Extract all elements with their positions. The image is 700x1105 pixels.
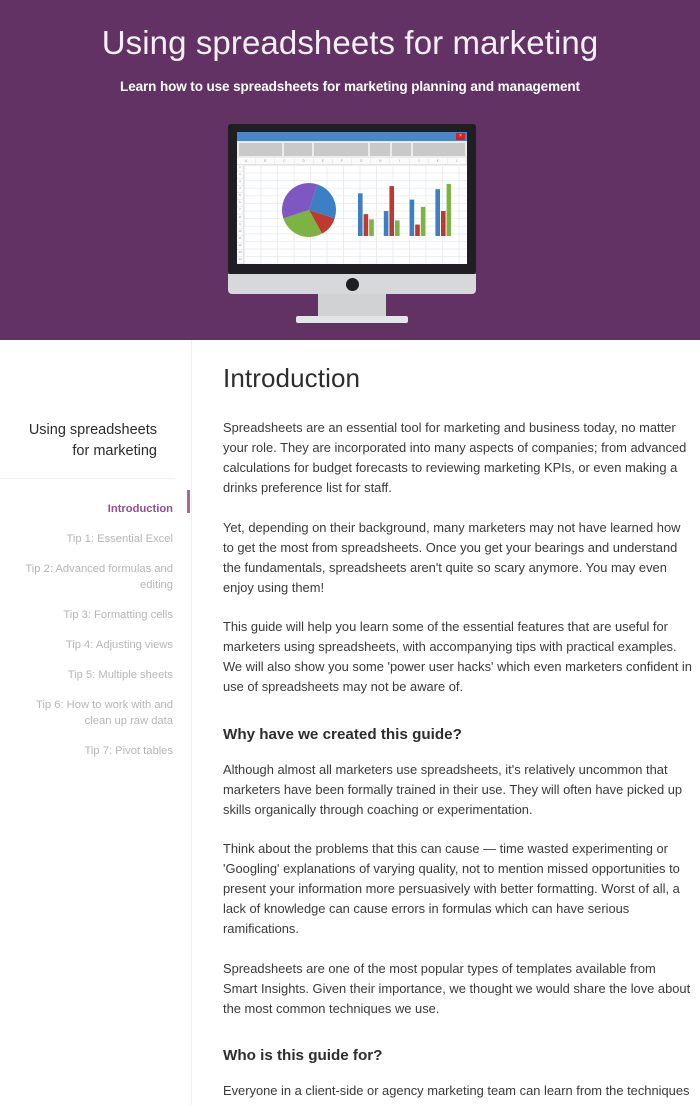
bar xyxy=(447,184,451,236)
row-header-cell: 7 xyxy=(237,207,243,214)
monitor-stand-column xyxy=(318,294,386,316)
ribbon-group xyxy=(284,143,312,156)
bar xyxy=(435,189,440,236)
body-paragraph: Spreadsheets are an essential tool for m… xyxy=(223,418,692,499)
row-header-cell: 9 xyxy=(237,222,243,229)
sidebar: Using spreadsheets for marketing Introdu… xyxy=(0,340,192,1105)
window-titlebar: × xyxy=(237,132,467,141)
active-nav-marker xyxy=(187,490,190,513)
monitor-chin xyxy=(228,274,476,294)
bar xyxy=(395,220,400,236)
row-header-column: 1234567891011121314 xyxy=(237,165,244,264)
body-paragraph: Although almost all marketers use spread… xyxy=(223,760,692,820)
row-header-cell: 6 xyxy=(237,200,243,207)
spreadsheet-ribbon xyxy=(237,141,467,158)
bar xyxy=(410,200,415,236)
monitor-illustration: × ABCDEFGHIJKL 1234567891011121314 xyxy=(0,124,700,304)
bar xyxy=(421,207,426,236)
ribbon-group xyxy=(413,143,465,156)
bar xyxy=(364,214,369,236)
bar-chart xyxy=(357,182,451,243)
bar-chart-svg xyxy=(357,182,451,238)
column-header-cell: A xyxy=(237,158,256,164)
monitor-screen: × ABCDEFGHIJKL 1234567891011121314 xyxy=(237,132,467,264)
row-header-cell: 11 xyxy=(237,236,243,243)
column-header-cell: F xyxy=(333,158,352,164)
column-header-cell: D xyxy=(295,158,314,164)
sidebar-item-tip-5-multiple-sheets[interactable]: Tip 5: Multiple sheets xyxy=(10,667,173,684)
webcam-icon xyxy=(346,278,359,291)
pie-chart xyxy=(279,180,339,245)
close-icon-glyph: × xyxy=(459,134,462,139)
column-header-cell: K xyxy=(429,158,448,164)
column-header-cell: J xyxy=(410,158,429,164)
sidebar-item-introduction[interactable]: Introduction xyxy=(10,501,173,518)
sidebar-nav: IntroductionTip 1: Essential ExcelTip 2:… xyxy=(0,479,191,760)
bar xyxy=(389,186,394,236)
row-header-cell: 13 xyxy=(237,250,243,257)
body-paragraph: Everyone in a client-side or agency mark… xyxy=(223,1081,692,1105)
pie-chart-svg xyxy=(279,180,339,240)
row-header-cell: 3 xyxy=(237,179,243,186)
ribbon-group xyxy=(314,143,368,156)
ribbon-group xyxy=(392,143,411,156)
monitor-stand-base xyxy=(296,316,408,323)
subsection-heading: Why have we created this guide? xyxy=(223,726,692,743)
body-paragraph: Yet, depending on their background, many… xyxy=(223,518,692,599)
content-blocks: Spreadsheets are an essential tool for m… xyxy=(223,418,692,1105)
sidebar-item-tip-2-advanced-formulas-and-editing[interactable]: Tip 2: Advanced formulas and editing xyxy=(10,561,173,595)
row-header-cell: 4 xyxy=(237,186,243,193)
row-header-cell: 8 xyxy=(237,215,243,222)
column-header-cell: H xyxy=(371,158,390,164)
body-paragraph: Think about the problems that this can c… xyxy=(223,839,692,940)
column-header-cell: I xyxy=(390,158,409,164)
guide-page: Using spreadsheets for marketing Learn h… xyxy=(0,0,700,1105)
main-content: Introduction Spreadsheets are an essenti… xyxy=(192,340,700,1105)
column-header-row: ABCDEFGHIJKL xyxy=(237,158,467,165)
body-paragraph: This guide will help you learn some of t… xyxy=(223,617,692,698)
ribbon-group xyxy=(370,143,390,156)
sidebar-title: Using spreadsheets for marketing xyxy=(0,340,175,479)
column-header-cell: G xyxy=(352,158,371,164)
body-paragraph: Spreadsheets are one of the most popular… xyxy=(223,959,692,1019)
sidebar-item-tip-3-formatting-cells[interactable]: Tip 3: Formatting cells xyxy=(10,607,173,624)
sidebar-item-tip-7-pivot-tables[interactable]: Tip 7: Pivot tables xyxy=(10,743,173,760)
column-header-cell: B xyxy=(256,158,275,164)
row-header-cell: 12 xyxy=(237,243,243,250)
sidebar-item-tip-1-essential-excel[interactable]: Tip 1: Essential Excel xyxy=(10,531,173,548)
monitor-bezel: × ABCDEFGHIJKL 1234567891011121314 xyxy=(228,124,476,274)
row-header-cell: 5 xyxy=(237,193,243,200)
page-title: Using spreadsheets for marketing xyxy=(0,22,700,63)
close-icon: × xyxy=(456,133,465,140)
row-header-cell: 1 xyxy=(237,165,243,172)
column-header-cell: E xyxy=(314,158,333,164)
page-subtitle: Learn how to use spreadsheets for market… xyxy=(0,79,700,94)
column-header-cell: L xyxy=(448,158,467,164)
bar xyxy=(369,219,374,236)
bar xyxy=(441,211,446,236)
row-header-cell: 14 xyxy=(237,257,243,264)
subsection-heading: Who is this guide for? xyxy=(223,1047,692,1064)
sidebar-item-tip-4-adjusting-views[interactable]: Tip 4: Adjusting views xyxy=(10,637,173,654)
sidebar-item-tip-6-how-to-work-with-and-clean-up-raw-data[interactable]: Tip 6: How to work with and clean up raw… xyxy=(10,697,173,731)
bar xyxy=(358,193,363,236)
row-header-cell: 2 xyxy=(237,172,243,179)
column-header-cell: C xyxy=(275,158,294,164)
row-header-cell: 10 xyxy=(237,229,243,236)
ribbon-group xyxy=(239,143,282,156)
bar xyxy=(415,225,420,236)
section-heading: Introduction xyxy=(223,363,692,394)
bar xyxy=(384,211,389,236)
